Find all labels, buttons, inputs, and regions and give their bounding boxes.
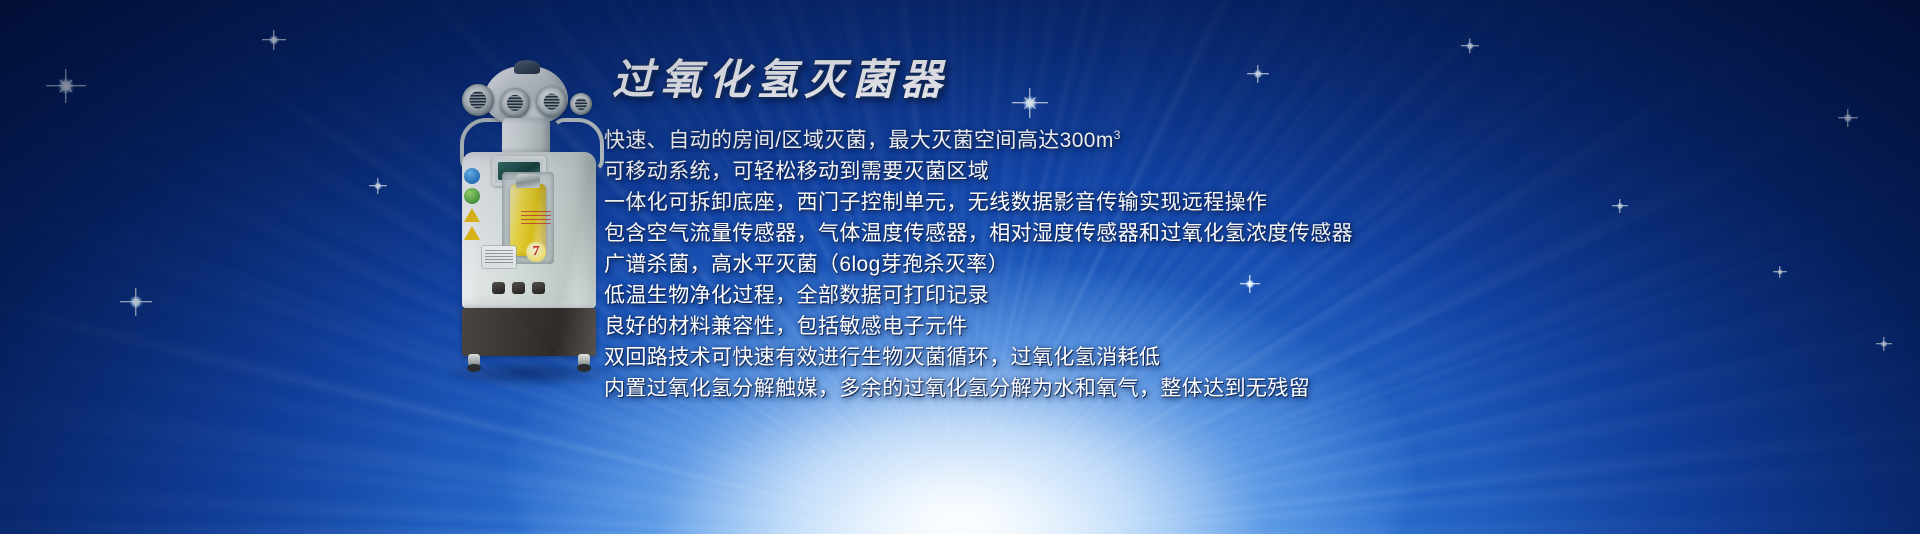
head-neck	[502, 118, 550, 154]
feature-text: 低温生物净化过程，全部数据可打印记录	[604, 284, 989, 307]
wheel-right	[577, 364, 591, 372]
recycle-sticker-icon	[464, 188, 480, 204]
feature-item-6: 低温生物净化过程，全部数据可打印记录	[604, 281, 1874, 311]
peroxide-bottle: 7	[510, 184, 546, 256]
product-image-sterilizer: 7	[440, 60, 620, 380]
feature-text: 广谱杀菌，高水平灭菌（6log芽孢杀灭率）	[604, 253, 1009, 276]
feature-list: 快速、自动的房间/区域灭菌，最大灭菌空间高达300m3 可移动系统，可轻松移动到…	[604, 120, 1874, 404]
wheel-left	[467, 364, 481, 372]
feature-item-1: 快速、自动的房间/区域灭菌，最大灭菌空间高达300m3	[604, 120, 1874, 156]
feature-text: 一体化可拆卸底座，西门子控制单元，无线数据影音传输实现远程操作	[604, 191, 1267, 214]
connector-ports	[492, 282, 550, 296]
feature-text: 双回路技术可快速有效进行生物灭菌循环，过氧化氢消耗低	[604, 346, 1160, 369]
feature-item-7: 良好的材料兼容性，包括敏感电子元件	[604, 312, 1874, 342]
page-title: 过氧化氢灭菌器	[612, 58, 1874, 104]
bottle-number: 7	[526, 242, 546, 262]
feature-text: 良好的材料兼容性，包括敏感电子元件	[604, 315, 968, 338]
bottle-label-text	[521, 208, 551, 224]
feature-text: 可移动系统，可轻松移动到需要灭菌区域	[604, 160, 989, 183]
feature-text: 内置过氧化氢分解触媒，多余的过氧化氢分解为水和氧气，整体达到无残留	[604, 377, 1310, 400]
feature-item-2: 可移动系统，可轻松移动到需要灭菌区域	[604, 157, 1874, 187]
feature-item-3: 一体化可拆卸底座，西门子控制单元，无线数据影音传输实现远程操作	[604, 188, 1874, 218]
feature-text: 快速、自动的房间/区域灭菌，最大灭菌空间高达300m	[604, 129, 1114, 152]
feature-item-5: 广谱杀菌，高水平灭菌（6log芽孢杀灭率）	[604, 250, 1874, 280]
feature-superscript: 3	[1114, 128, 1121, 142]
spray-nozzle-left	[462, 84, 494, 116]
product-banner: 7 过氧化氢灭菌器 快速、自动的房间/区域灭菌，最大灭菌空间高达300m3 可移…	[0, 0, 1920, 534]
bottle-cap	[516, 174, 540, 188]
spec-plate	[482, 246, 516, 268]
hazard-triangle-icon	[464, 208, 480, 222]
text-content: 过氧化氢灭菌器 快速、自动的房间/区域灭菌，最大灭菌空间高达300m3 可移动系…	[604, 58, 1874, 405]
feature-text: 包含空气流量传感器，气体温度传感器，相对湿度传感器和过氧化氢浓度传感器	[604, 222, 1353, 245]
feature-item-9: 内置过氧化氢分解触媒，多余的过氧化氢分解为水和氧气，整体达到无残留	[604, 374, 1874, 404]
feature-item-8: 双回路技术可快速有效进行生物灭菌循环，过氧化氢消耗低	[604, 343, 1874, 373]
spray-nozzle-right	[536, 86, 567, 117]
head-cap	[514, 60, 540, 74]
feature-item-4: 包含空气流量传感器，气体温度传感器，相对湿度传感器和过氧化氢浓度传感器	[604, 219, 1874, 249]
ce-sticker-icon	[464, 168, 480, 184]
device-base-unit	[462, 308, 596, 356]
spray-nozzle-center	[500, 88, 530, 118]
warning-sticker-group	[464, 168, 482, 244]
spray-nozzle-front	[570, 93, 592, 115]
warning-triangle-icon	[464, 226, 480, 240]
